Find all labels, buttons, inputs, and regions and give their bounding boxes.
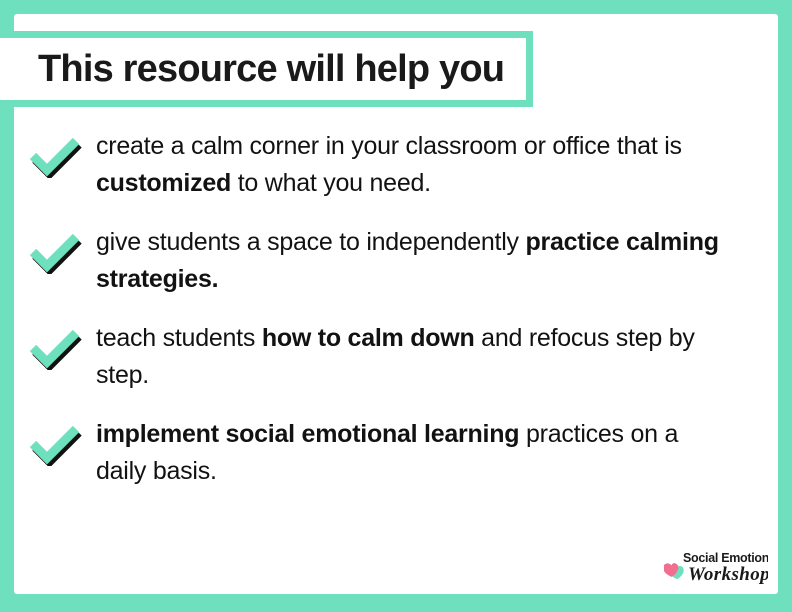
benefit-list: create a calm corner in your classroom o… <box>14 128 774 490</box>
text-segment: give students a space to independently <box>96 228 525 256</box>
poster-canvas: This resource will help you create a cal… <box>0 0 792 612</box>
list-item-text: give students a space to independently p… <box>96 224 721 298</box>
title-banner: This resource will help you <box>0 31 533 107</box>
brand-logo-svg: Social Emotional Workshop <box>664 546 768 590</box>
list-item-text: teach students how to calm down and refo… <box>96 320 721 394</box>
check-icon <box>28 230 82 274</box>
check-cell <box>14 128 96 178</box>
check-icon <box>28 326 82 370</box>
text-segment: to what you need. <box>231 169 431 197</box>
list-item-text: create a calm corner in your classroom o… <box>96 128 721 202</box>
check-cell <box>14 320 96 370</box>
check-icon <box>28 134 82 178</box>
text-segment-bold: customized <box>96 169 231 197</box>
text-segment-bold: implement social emotional learning <box>96 420 519 448</box>
logo-line2: Workshop <box>688 564 768 585</box>
page-title: This resource will help you <box>0 50 504 88</box>
text-segment: teach students <box>96 324 262 352</box>
list-item: create a calm corner in your classroom o… <box>14 128 774 202</box>
check-icon <box>28 422 82 466</box>
logo-line1: Social Emotional <box>683 551 768 565</box>
list-item: teach students how to calm down and refo… <box>14 320 774 394</box>
list-item-text: implement social emotional learning prac… <box>96 416 721 490</box>
list-item: implement social emotional learning prac… <box>14 416 774 490</box>
check-cell <box>14 416 96 466</box>
title-banner-inner: This resource will help you <box>0 38 526 100</box>
text-segment-bold: how to calm down <box>262 324 475 352</box>
list-item: give students a space to independently p… <box>14 224 774 298</box>
check-cell <box>14 224 96 274</box>
brand-logo: Social Emotional Workshop <box>664 546 768 590</box>
text-segment: create a calm corner in your classroom o… <box>96 132 682 160</box>
